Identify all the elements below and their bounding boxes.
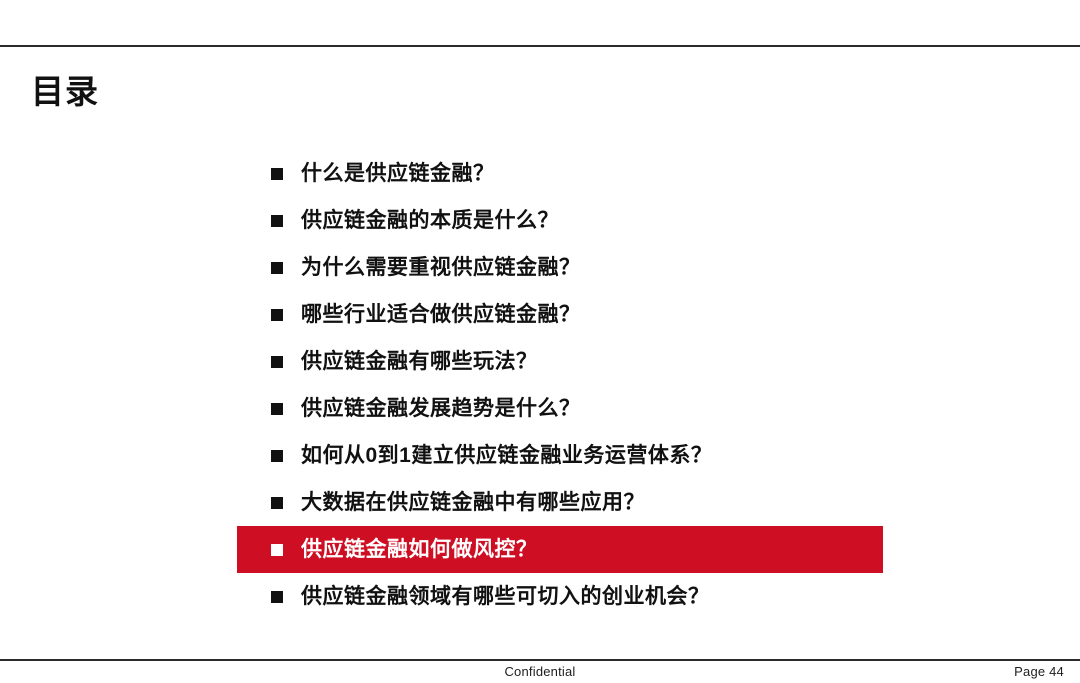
- square-bullet-icon: [271, 215, 283, 227]
- list-item[interactable]: 供应链金融发展趋势是什么？: [237, 385, 937, 432]
- list-item-highlighted[interactable]: 供应链金融如何做风控？: [237, 526, 883, 573]
- list-item[interactable]: 供应链金融的本质是什么？: [237, 197, 937, 244]
- slide-canvas: 目录 什么是供应链金融？ 供应链金融的本质是什么？ 为什么需要重视供应链金融？ …: [0, 0, 1080, 683]
- list-item[interactable]: 什么是供应链金融？: [237, 150, 937, 197]
- square-bullet-icon: [271, 591, 283, 603]
- square-bullet-icon: [271, 356, 283, 368]
- list-item-label: 为什么需要重视供应链金融？: [301, 257, 581, 278]
- list-item[interactable]: 如何从0到1建立供应链金融业务运营体系？: [237, 432, 937, 479]
- list-item-label: 供应链金融的本质是什么？: [301, 210, 559, 231]
- list-item[interactable]: 供应链金融有哪些玩法？: [237, 338, 937, 385]
- square-bullet-icon: [271, 168, 283, 180]
- header-divider: [0, 45, 1080, 47]
- page-number: Page 44: [1014, 664, 1064, 679]
- list-item[interactable]: 为什么需要重视供应链金融？: [237, 244, 937, 291]
- square-bullet-icon: [271, 262, 283, 274]
- list-item-label: 什么是供应链金融？: [301, 163, 495, 184]
- footer-divider: [0, 659, 1080, 661]
- confidentiality-notice: Confidential: [0, 664, 1080, 679]
- square-bullet-icon: [271, 497, 283, 509]
- list-item[interactable]: 哪些行业适合做供应链金融？: [237, 291, 937, 338]
- page-title: 目录: [31, 73, 99, 111]
- list-item-label: 如何从0到1建立供应链金融业务运营体系？: [301, 445, 712, 466]
- list-item-label: 供应链金融领域有哪些可切入的创业机会？: [301, 586, 710, 607]
- list-item-label: 供应链金融有哪些玩法？: [301, 351, 538, 372]
- list-item-label: 供应链金融如何做风控？: [301, 539, 538, 560]
- square-bullet-icon: [271, 450, 283, 462]
- square-bullet-icon: [271, 403, 283, 415]
- square-bullet-icon: [271, 309, 283, 321]
- list-item-label: 大数据在供应链金融中有哪些应用？: [301, 492, 645, 513]
- list-item-label: 哪些行业适合做供应链金融？: [301, 304, 581, 325]
- square-bullet-icon: [271, 544, 283, 556]
- list-item-label: 供应链金融发展趋势是什么？: [301, 398, 581, 419]
- list-item[interactable]: 供应链金融领域有哪些可切入的创业机会？: [237, 573, 937, 620]
- agenda-list: 什么是供应链金融？ 供应链金融的本质是什么？ 为什么需要重视供应链金融？ 哪些行…: [237, 150, 937, 620]
- list-item[interactable]: 大数据在供应链金融中有哪些应用？: [237, 479, 937, 526]
